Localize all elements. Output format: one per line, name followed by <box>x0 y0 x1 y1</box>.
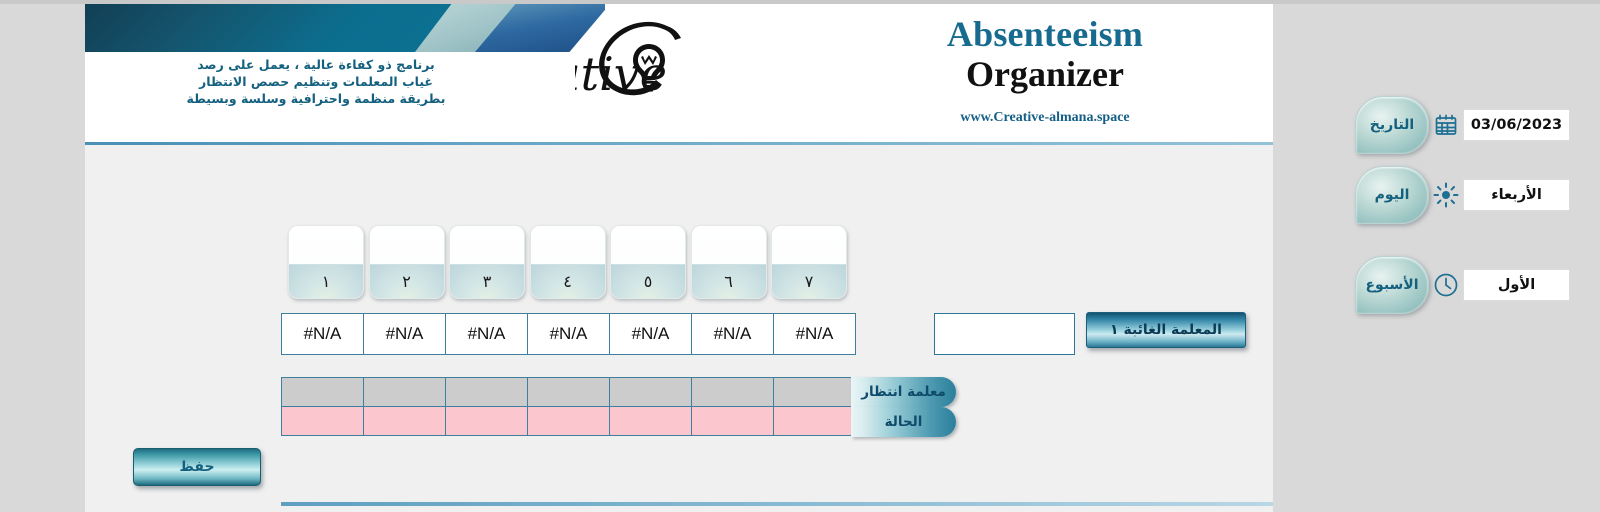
grid-cell[interactable] <box>446 378 528 407</box>
period-button-top <box>370 226 444 265</box>
period-button-bottom: ١ <box>289 265 363 298</box>
na-cell[interactable]: #N/A <box>773 314 855 354</box>
grid-cell[interactable] <box>528 378 610 407</box>
period-button[interactable]: ٣ <box>449 225 525 299</box>
page-title-organizer: Organizer <box>845 54 1245 94</box>
period-button-row: ٧ ٦ ٥ ٤ <box>288 225 847 299</box>
clock-icon <box>1429 269 1463 301</box>
row-label-substitute-teacher: معلمة انتظار <box>851 377 956 407</box>
row-label-text: معلمة انتظار <box>861 384 946 400</box>
grid-cell[interactable] <box>774 407 856 436</box>
sidebar-button-day[interactable]: اليوم <box>1355 166 1429 224</box>
save-button[interactable]: حفظ <box>133 448 261 486</box>
svg-text:reative: reative <box>575 47 667 101</box>
na-cell[interactable]: #N/A <box>609 314 691 354</box>
table-row[interactable] <box>282 407 856 436</box>
period-button[interactable]: ٤ <box>530 225 606 299</box>
na-cell[interactable]: #N/A <box>282 314 363 354</box>
day-value: الأربعاء <box>1491 187 1542 203</box>
grid-cell[interactable] <box>610 407 692 436</box>
date-value: 03/06/2023 <box>1471 117 1562 133</box>
na-cell[interactable]: #N/A <box>445 314 527 354</box>
period-button[interactable]: ١ <box>288 225 364 299</box>
absent-teacher-input[interactable] <box>934 313 1075 355</box>
table-row[interactable] <box>282 378 856 407</box>
period-button-bottom: ٦ <box>692 265 766 298</box>
period-number: ٤ <box>563 274 572 290</box>
sheet-header: برنامج ذو كفاءة عالية ، يعمل على رصد غيا… <box>85 4 1273 142</box>
period-button[interactable]: ٧ <box>771 225 847 299</box>
period-number: ١ <box>322 274 331 290</box>
grid-cell[interactable] <box>282 407 364 436</box>
period-number: ٦ <box>724 274 733 290</box>
page-root: برنامج ذو كفاءة عالية ، يعمل على رصد غيا… <box>0 0 1600 512</box>
period-button[interactable]: ٥ <box>610 225 686 299</box>
bottom-divider <box>281 502 1273 506</box>
sun-icon <box>1429 179 1463 211</box>
sidebar-button-week-label: الأسبوع <box>1365 277 1418 293</box>
period-number: ٧ <box>805 274 814 290</box>
row-label-text: الحالة <box>885 414 923 430</box>
grid-cell[interactable] <box>364 378 446 407</box>
right-sidebar: 03/06/2023 التاريخ <box>1273 4 1600 512</box>
period-button-bottom: ٣ <box>450 265 524 298</box>
row-label-status: الحالة <box>851 407 956 437</box>
sidebar-row-week: الأول الأسبوع <box>1355 256 1570 314</box>
grid-cell[interactable] <box>528 407 610 436</box>
banner-graphic <box>85 4 605 52</box>
date-field[interactable]: 03/06/2023 <box>1463 109 1570 141</box>
period-button-top <box>450 226 524 265</box>
sidebar-button-week[interactable]: الأسبوع <box>1355 256 1429 314</box>
period-button-top <box>772 226 846 265</box>
body-area: ٧ ٦ ٥ ٤ <box>85 145 1273 512</box>
absent-teacher-button[interactable]: المعلمة الغائبة ١ <box>1086 312 1246 348</box>
week-field[interactable]: الأول <box>1463 269 1570 301</box>
assignment-grid <box>281 377 856 436</box>
page-title-absenteeism: Absenteeism <box>845 14 1245 54</box>
period-number: ٢ <box>402 274 411 290</box>
tagline: برنامج ذو كفاءة عالية ، يعمل على رصد غيا… <box>181 56 451 107</box>
grid-cell[interactable] <box>610 378 692 407</box>
title-block: Absenteeism Organizer www.Creative-alman… <box>845 14 1245 126</box>
period-button-top <box>289 226 363 265</box>
period-number: ٣ <box>483 274 492 290</box>
na-cell[interactable]: #N/A <box>527 314 609 354</box>
period-button-top <box>692 226 766 265</box>
period-button-bottom: ٧ <box>772 265 846 298</box>
grid-cell[interactable] <box>282 378 364 407</box>
calendar-icon <box>1429 109 1463 141</box>
period-button-bottom: ٤ <box>531 265 605 298</box>
sidebar-row-date: 03/06/2023 التاريخ <box>1355 96 1570 154</box>
day-field[interactable]: الأربعاء <box>1463 179 1570 211</box>
period-button-bottom: ٢ <box>370 265 444 298</box>
save-button-label: حفظ <box>179 459 214 475</box>
period-button-bottom: ٥ <box>611 265 685 298</box>
sidebar-button-date-label: التاريخ <box>1370 117 1414 133</box>
na-cell[interactable]: #N/A <box>363 314 445 354</box>
period-number: ٥ <box>644 274 653 290</box>
grid-cell[interactable] <box>446 407 528 436</box>
sidebar-row-day: الأربعاء اليوم <box>1355 166 1570 224</box>
main-sheet: برنامج ذو كفاءة عالية ، يعمل على رصد غيا… <box>85 4 1273 512</box>
week-value: الأول <box>1498 277 1535 293</box>
sidebar-button-day-label: اليوم <box>1375 187 1410 203</box>
na-row: #N/A #N/A #N/A #N/A #N/A #N/A #N/A <box>281 313 856 355</box>
absent-teacher-button-label: المعلمة الغائبة ١ <box>1110 322 1222 338</box>
grid-cell[interactable] <box>364 407 446 436</box>
grid-cell[interactable] <box>692 378 774 407</box>
sidebar-button-date[interactable]: التاريخ <box>1355 96 1429 154</box>
period-button[interactable]: ٦ <box>691 225 767 299</box>
website-url[interactable]: www.Creative-almana.space <box>845 110 1245 126</box>
period-button-top <box>611 226 685 265</box>
grid-cell[interactable] <box>692 407 774 436</box>
period-button-top <box>531 226 605 265</box>
grid-cell[interactable] <box>774 378 856 407</box>
na-cell[interactable]: #N/A <box>691 314 773 354</box>
creative-logo: reative <box>575 12 765 122</box>
period-button[interactable]: ٢ <box>369 225 445 299</box>
